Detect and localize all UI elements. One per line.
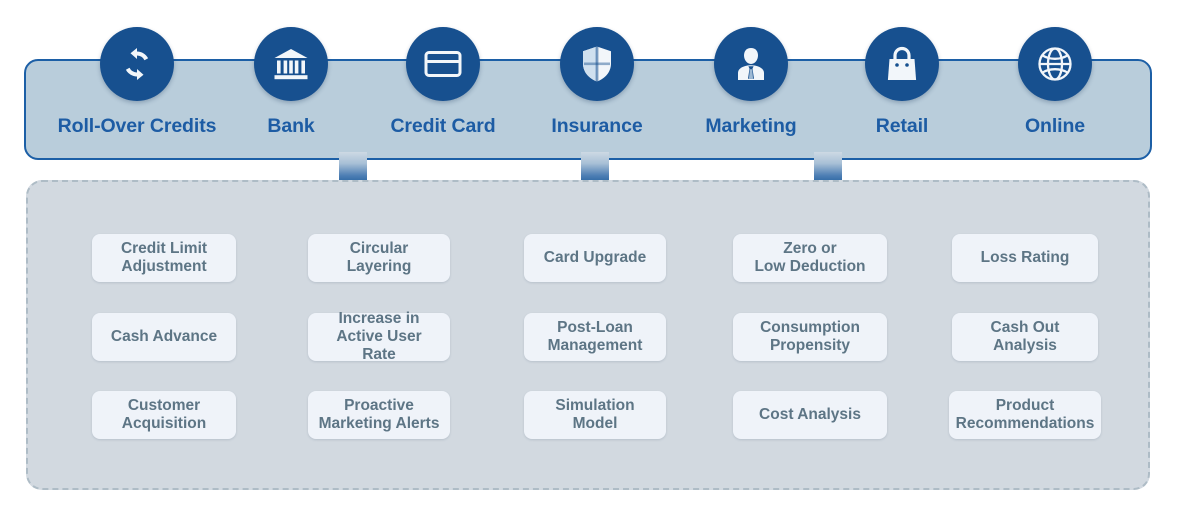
channel-item-label: Credit Card (363, 115, 523, 138)
solution-card[interactable]: Consumption Propensity (733, 313, 887, 361)
solution-card[interactable]: Card Upgrade (524, 234, 666, 282)
solution-card[interactable]: Zero or Low Deduction (733, 234, 887, 282)
solution-card[interactable]: Customer Acquisition (92, 391, 236, 439)
solution-card-label: Card Upgrade (544, 249, 647, 267)
channel-item-label: Online (990, 115, 1120, 138)
solution-card[interactable]: Product Recommendations (949, 391, 1101, 439)
businessman-icon (714, 27, 788, 101)
solution-card[interactable]: Increase in Active User Rate (308, 313, 450, 361)
solution-card[interactable]: Post-Loan Management (524, 313, 666, 361)
diagram-canvas: Roll-Over Credits Bank Credit Card Insur… (0, 0, 1190, 520)
solution-card-label: Increase in Active User Rate (318, 310, 440, 364)
solution-card-label: Circular Layering (318, 240, 440, 276)
solution-panel: Credit Limit AdjustmentCash AdvanceCusto… (26, 180, 1150, 490)
solution-card-label: Product Recommendations (956, 397, 1095, 433)
channel-item-label: Retail (842, 115, 962, 138)
solution-card-label: Cash Advance (111, 328, 217, 346)
solution-column: Circular LayeringIncrease in Active User… (279, 182, 479, 492)
arrow-shaft (814, 152, 842, 182)
solution-card[interactable]: Cost Analysis (733, 391, 887, 439)
shield-icon (560, 27, 634, 101)
arrow-shaft (581, 152, 609, 182)
solution-card-label: Proactive Marketing Alerts (319, 397, 440, 433)
solution-card[interactable]: Simulation Model (524, 391, 666, 439)
channel-item-insurance[interactable]: Insurance (522, 61, 672, 162)
solution-card-label: Cash Out Analysis (962, 319, 1088, 355)
solution-card-label: Consumption Propensity (760, 319, 860, 355)
solution-card[interactable]: Proactive Marketing Alerts (308, 391, 450, 439)
solution-column: Card UpgradePost-Loan ManagementSimulati… (495, 182, 695, 492)
solution-card[interactable]: Credit Limit Adjustment (92, 234, 236, 282)
solution-card[interactable]: Cash Out Analysis (952, 313, 1098, 361)
solution-card-label: Loss Rating (981, 249, 1070, 267)
solution-column: Zero or Low DeductionConsumption Propens… (710, 182, 910, 492)
solution-card-label: Post-Loan Management (548, 319, 643, 355)
solution-card-label: Zero or Low Deduction (754, 240, 865, 276)
channel-item-bank[interactable]: Bank (231, 61, 351, 162)
channel-bar: Roll-Over Credits Bank Credit Card Insur… (24, 59, 1152, 160)
channel-item-retail[interactable]: Retail (842, 61, 962, 162)
solution-card-label: Customer Acquisition (122, 397, 206, 433)
solution-card-label: Cost Analysis (759, 406, 861, 424)
channel-item-label: Insurance (522, 115, 672, 138)
solution-card[interactable]: Circular Layering (308, 234, 450, 282)
channel-item-label: Roll-Over Credits (32, 115, 242, 138)
shopping-bag-icon (865, 27, 939, 101)
globe-icon (1018, 27, 1092, 101)
channel-item-marketing[interactable]: Marketing (676, 61, 826, 162)
channel-item-roll-over-credits[interactable]: Roll-Over Credits (32, 61, 242, 162)
arrow-shaft (339, 152, 367, 182)
solution-column: Credit Limit AdjustmentCash AdvanceCusto… (64, 182, 264, 492)
solution-card[interactable]: Cash Advance (92, 313, 236, 361)
solution-card-label: Credit Limit Adjustment (121, 240, 207, 276)
credit-card-icon (406, 27, 480, 101)
channel-item-label: Marketing (676, 115, 826, 138)
rollover-refresh-icon (100, 27, 174, 101)
bank-building-icon (254, 27, 328, 101)
solution-column: Loss RatingCash Out AnalysisProduct Reco… (925, 182, 1125, 492)
channel-item-online[interactable]: Online (990, 61, 1120, 162)
solution-card[interactable]: Loss Rating (952, 234, 1098, 282)
channel-item-label: Bank (231, 115, 351, 138)
solution-card-label: Simulation Model (534, 397, 656, 433)
channel-item-credit-card[interactable]: Credit Card (363, 61, 523, 162)
